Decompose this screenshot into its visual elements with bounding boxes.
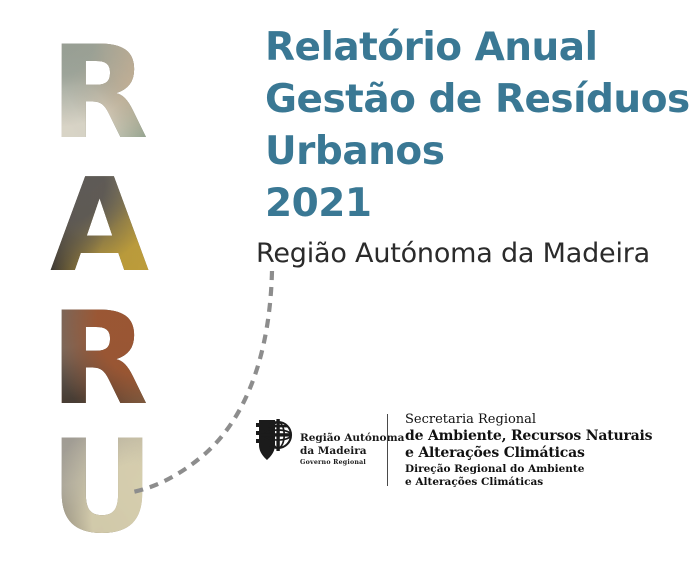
madeira-government-logo: Região Autónoma da Madeira Governo Regio… bbox=[256, 418, 386, 480]
secretaria-line-4: Direção Regional do Ambiente bbox=[405, 463, 690, 476]
madeira-logo-text: Região Autónoma da Madeira Governo Regio… bbox=[300, 432, 392, 467]
madeira-coat-of-arms-icon bbox=[256, 418, 296, 462]
title-line-2: Gestão de Resíduos bbox=[265, 74, 685, 126]
acronym-letter-r-1: R bbox=[50, 30, 162, 158]
secretaria-line-2: de Ambiente, Recursos Naturais bbox=[405, 428, 690, 445]
page-subtitle: Região Autónoma da Madeira bbox=[256, 240, 650, 267]
logo-divider bbox=[387, 414, 388, 486]
page-title: Relatório Anual Gestão de Resíduos Urban… bbox=[265, 22, 685, 230]
madeira-logo-line-1: Região Autónoma bbox=[300, 432, 392, 445]
madeira-logo-line-3: Governo Regional bbox=[300, 458, 392, 467]
madeira-logo-line-2: da Madeira bbox=[300, 445, 392, 458]
report-cover-page: R A R U Relatório Anual Gestão de Resídu… bbox=[0, 0, 696, 545]
title-line-3: Urbanos bbox=[265, 126, 685, 178]
secretaria-line-1: Secretaria Regional bbox=[405, 412, 690, 428]
secretaria-line-5: e Alterações Climáticas bbox=[405, 476, 690, 489]
title-line-1: Relatório Anual bbox=[265, 22, 685, 74]
secretaria-line-3: e Alterações Climáticas bbox=[405, 445, 690, 462]
logo-row: Região Autónoma da Madeira Governo Regio… bbox=[250, 408, 690, 500]
title-year: 2021 bbox=[265, 178, 685, 230]
secretaria-regional-logo: Secretaria Regional de Ambiente, Recurso… bbox=[405, 412, 690, 489]
